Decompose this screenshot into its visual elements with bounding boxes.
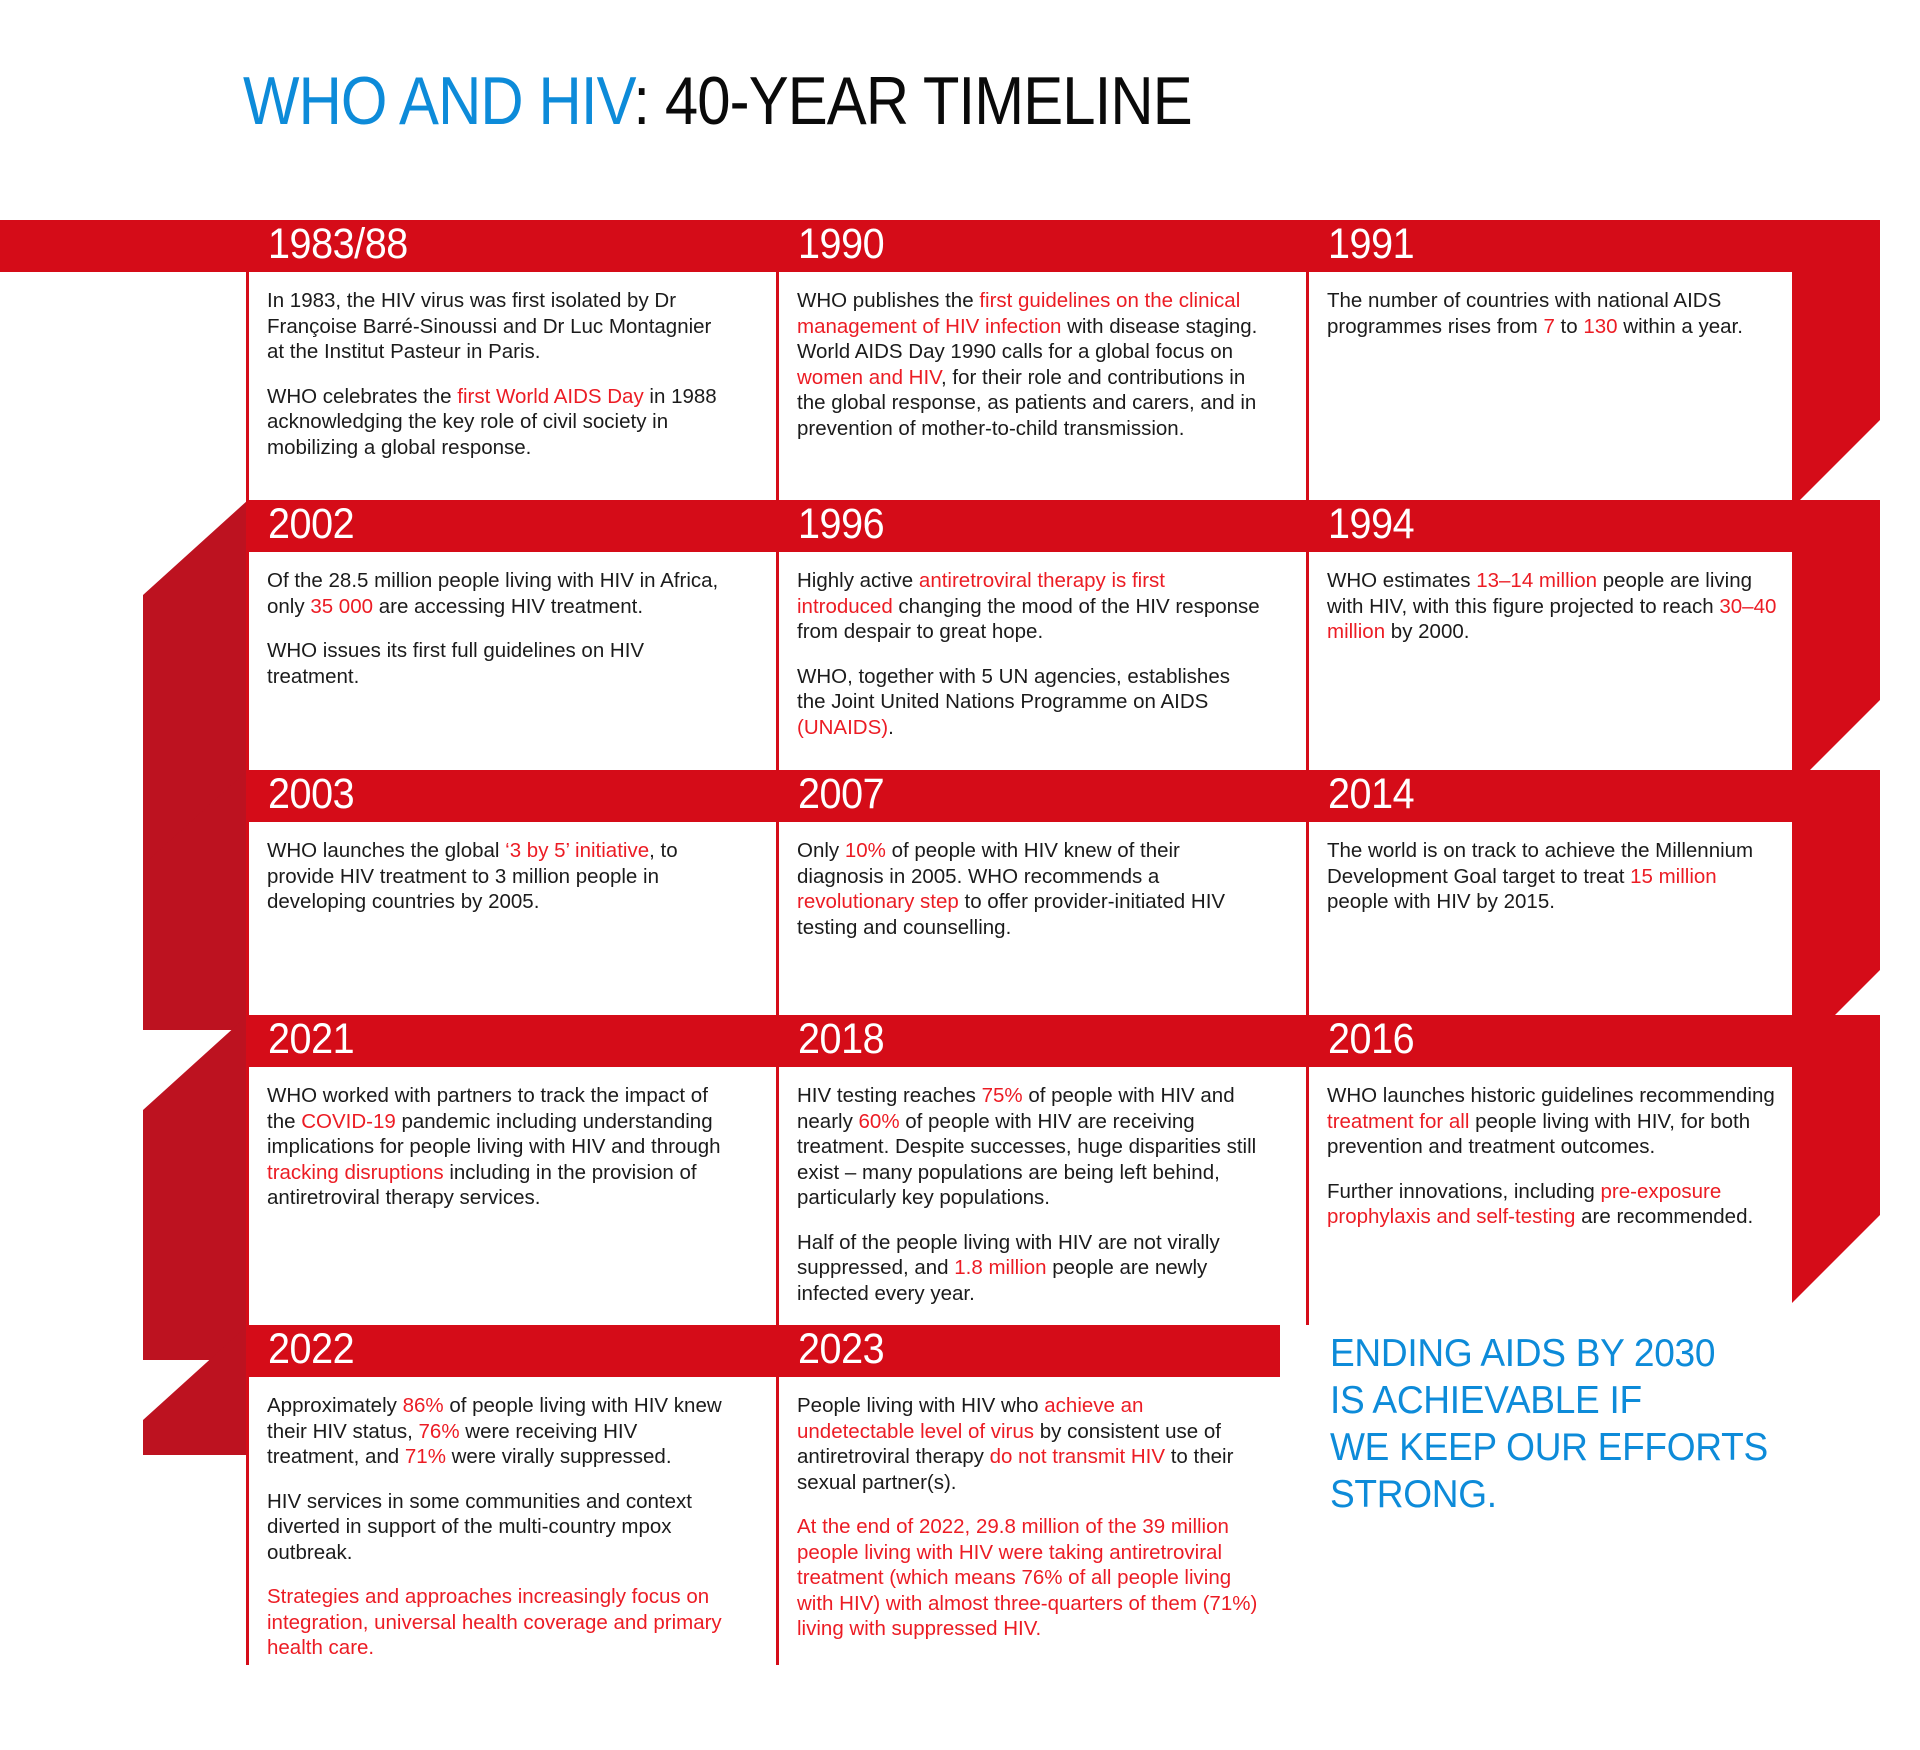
- body-text: WHO estimates: [1327, 569, 1476, 592]
- body-text: were virally suppressed.: [446, 1445, 672, 1468]
- card-year: 2016: [1328, 1013, 1414, 1065]
- highlight-text: 1.8 million: [954, 1256, 1046, 1279]
- card-paragraph: At the end of 2022, 29.8 million of the …: [779, 1514, 1280, 1642]
- highlight-text: 7: [1543, 315, 1554, 338]
- row-2-arrow-tip: [1790, 500, 1880, 790]
- card-paragraph: WHO launches the global ‘3 by 5’ initiat…: [249, 822, 746, 915]
- body-text: People living with HIV who: [797, 1394, 1044, 1417]
- card-year: 1983/88: [268, 218, 408, 270]
- card-body: The world is on track to achieve the Mil…: [1306, 822, 1792, 1015]
- slogan-line-3: WE KEEP OUR EFFORTS: [1330, 1424, 1768, 1471]
- card-year: 1991: [1328, 218, 1414, 270]
- highlight-text: 86%: [403, 1394, 444, 1417]
- timeline-card-2018[interactable]: 2018 HIV testing reaches 75% of people w…: [776, 1015, 1276, 1325]
- body-text: Highly active: [797, 569, 919, 592]
- highlight-text: 71%: [405, 1445, 446, 1468]
- body-text: within a year.: [1618, 315, 1743, 338]
- card-paragraph: The world is on track to achieve the Mil…: [1309, 822, 1792, 915]
- closing-slogan: ENDING AIDS BY 2030 IS ACHIEVABLE IF WE …: [1330, 1330, 1768, 1518]
- body-text: by 2000.: [1385, 620, 1469, 643]
- highlight-text: 76%: [419, 1420, 460, 1443]
- page-title-blue: WHO AND HIV: [243, 63, 633, 139]
- body-text: HIV testing reaches: [797, 1084, 982, 1107]
- timeline-card-2007[interactable]: 2007 Only 10% of people with HIV knew of…: [776, 770, 1276, 1015]
- body-text: Further innovations, including: [1327, 1180, 1601, 1203]
- page-title-black: : 40-YEAR TIMELINE: [633, 63, 1191, 139]
- card-paragraph: WHO publishes the first guidelines on th…: [779, 272, 1276, 441]
- body-text: WHO issues its first full guidelines on …: [267, 639, 644, 688]
- body-text: Approximately: [267, 1394, 403, 1417]
- timeline-card-2014[interactable]: 2014 The world is on track to achieve th…: [1306, 770, 1792, 1015]
- card-body: Approximately 86% of people living with …: [246, 1377, 746, 1665]
- slogan-line-4: STRONG.: [1330, 1471, 1768, 1518]
- highlight-text: Strategies and approaches increasingly f…: [267, 1585, 722, 1659]
- row-1-header-strip-right: [1790, 220, 1852, 272]
- timeline-card-1983-88[interactable]: 1983/88 In 1983, the HIV virus was first…: [246, 220, 746, 500]
- highlight-text: tracking disruptions: [267, 1161, 444, 1184]
- body-text: WHO, together with 5 UN agencies, establ…: [797, 665, 1230, 714]
- timeline-card-2003[interactable]: 2003 WHO launches the global ‘3 by 5’ in…: [246, 770, 746, 1015]
- timeline-card-2016[interactable]: 2016 WHO launches historic guidelines re…: [1306, 1015, 1792, 1325]
- card-body: WHO launches the global ‘3 by 5’ initiat…: [246, 822, 746, 1015]
- card-year: 1996: [798, 498, 884, 550]
- timeline-card-2022[interactable]: 2022 Approximately 86% of people living …: [246, 1325, 746, 1665]
- card-body: Highly active antiretroviral therapy is …: [776, 552, 1276, 770]
- body-text: are recommended.: [1575, 1205, 1753, 1228]
- infographic-page: WHO AND HIV: 40-YEAR TIMELINE 1983/88 In…: [0, 0, 1920, 1750]
- card-paragraph: WHO celebrates the first World AIDS Day …: [249, 384, 746, 461]
- highlight-text: 35 000: [310, 595, 373, 618]
- highlight-text: 60%: [859, 1110, 900, 1133]
- highlight-text: 13–14 million: [1476, 569, 1597, 592]
- timeline-card-1990[interactable]: 1990 WHO publishes the first guidelines …: [776, 220, 1276, 500]
- card-paragraph: The number of countries with national AI…: [1309, 272, 1792, 339]
- card-paragraph: Only 10% of people with HIV knew of thei…: [779, 822, 1276, 940]
- card-year: 2003: [268, 768, 354, 820]
- card-paragraph: WHO estimates 13–14 million people are l…: [1309, 552, 1792, 645]
- highlight-text: 130: [1583, 315, 1617, 338]
- highlight-text: revolutionary step: [797, 890, 959, 913]
- page-title: WHO AND HIV: 40-YEAR TIMELINE: [243, 62, 1192, 140]
- timeline-card-2002[interactable]: 2002 Of the 28.5 million people living w…: [246, 500, 746, 770]
- highlight-text: At the end of 2022, 29.8 million of the …: [797, 1515, 1257, 1640]
- card-body: WHO worked with partners to track the im…: [246, 1067, 746, 1325]
- card-body: Of the 28.5 million people living with H…: [246, 552, 746, 770]
- card-paragraph: Highly active antiretroviral therapy is …: [779, 552, 1276, 645]
- highlight-text: COVID-19: [301, 1110, 396, 1133]
- card-paragraph: Further innovations, including pre-expos…: [1309, 1179, 1792, 1230]
- card-body: In 1983, the HIV virus was first isolate…: [246, 272, 746, 500]
- card-paragraph: WHO issues its first full guidelines on …: [249, 638, 746, 689]
- body-text: WHO celebrates the: [267, 385, 457, 408]
- card-paragraph: Half of the people living with HIV are n…: [779, 1230, 1276, 1307]
- card-paragraph: HIV services in some communities and con…: [249, 1489, 746, 1566]
- timeline-card-2021[interactable]: 2021 WHO worked with partners to track t…: [246, 1015, 746, 1325]
- highlight-text: women and HIV: [797, 366, 941, 389]
- card-paragraph: HIV testing reaches 75% of people with H…: [779, 1067, 1276, 1211]
- card-paragraph: WHO worked with partners to track the im…: [249, 1067, 746, 1211]
- highlight-text: first World AIDS Day: [457, 385, 643, 408]
- highlight-text: treatment for all: [1327, 1110, 1469, 1133]
- timeline-card-1996[interactable]: 1996 Highly active antiretroviral therap…: [776, 500, 1276, 770]
- card-paragraph: WHO, together with 5 UN agencies, establ…: [779, 664, 1276, 741]
- card-year: 2007: [798, 768, 884, 820]
- highlight-text: 10%: [845, 839, 886, 862]
- card-year: 2021: [268, 1013, 354, 1065]
- card-year: 2014: [1328, 768, 1414, 820]
- card-body: People living with HIV who achieve an un…: [776, 1377, 1280, 1665]
- body-text: In 1983, the HIV virus was first isolate…: [267, 289, 711, 363]
- timeline-card-1991[interactable]: 1991 The number of countries with nation…: [1306, 220, 1792, 500]
- card-paragraph: WHO launches historic guidelines recomme…: [1309, 1067, 1792, 1160]
- card-paragraph: Strategies and approaches increasingly f…: [249, 1584, 746, 1661]
- body-text: WHO publishes the: [797, 289, 979, 312]
- slogan-line-2: IS ACHIEVABLE IF: [1330, 1377, 1768, 1424]
- highlight-text: (UNAIDS): [797, 716, 888, 739]
- card-body: HIV testing reaches 75% of people with H…: [776, 1067, 1276, 1325]
- highlight-text: ‘3 by 5’ initiative: [505, 839, 649, 862]
- slogan-line-1: ENDING AIDS BY 2030: [1330, 1330, 1768, 1377]
- card-body: Only 10% of people with HIV knew of thei…: [776, 822, 1276, 1015]
- timeline-card-1994[interactable]: 1994 WHO estimates 13–14 million people …: [1306, 500, 1792, 770]
- body-text: WHO launches historic guidelines recomme…: [1327, 1084, 1775, 1107]
- card-year: 1994: [1328, 498, 1414, 550]
- card-paragraph: Approximately 86% of people living with …: [249, 1377, 746, 1470]
- card-year: 2022: [268, 1323, 354, 1375]
- card-year: 2018: [798, 1013, 884, 1065]
- highlight-text: do not transmit HIV: [990, 1445, 1165, 1468]
- card-body: WHO estimates 13–14 million people are l…: [1306, 552, 1792, 770]
- card-paragraph: People living with HIV who achieve an un…: [779, 1377, 1280, 1495]
- body-text: people with HIV by 2015.: [1327, 890, 1555, 913]
- card-paragraph: In 1983, the HIV virus was first isolate…: [249, 272, 746, 365]
- card-year: 1990: [798, 218, 884, 270]
- body-text: Only: [797, 839, 845, 862]
- body-text: WHO launches the global: [267, 839, 505, 862]
- highlight-text: 15 million: [1630, 865, 1717, 888]
- body-text: .: [888, 716, 894, 739]
- body-text: HIV services in some communities and con…: [267, 1490, 692, 1564]
- card-year: 2002: [268, 498, 354, 550]
- body-text: are accessing HIV treatment.: [373, 595, 643, 618]
- timeline-card-2023[interactable]: 2023 People living with HIV who achieve …: [776, 1325, 1280, 1665]
- card-paragraph: Of the 28.5 million people living with H…: [249, 552, 746, 619]
- card-body: WHO launches historic guidelines recomme…: [1306, 1067, 1792, 1325]
- body-text: to: [1555, 315, 1584, 338]
- card-year: 2023: [798, 1323, 884, 1375]
- card-body: The number of countries with national AI…: [1306, 272, 1792, 500]
- card-body: WHO publishes the first guidelines on th…: [776, 272, 1276, 500]
- row-4-arrow-tip: [1790, 1015, 1880, 1305]
- highlight-text: 75%: [982, 1084, 1023, 1107]
